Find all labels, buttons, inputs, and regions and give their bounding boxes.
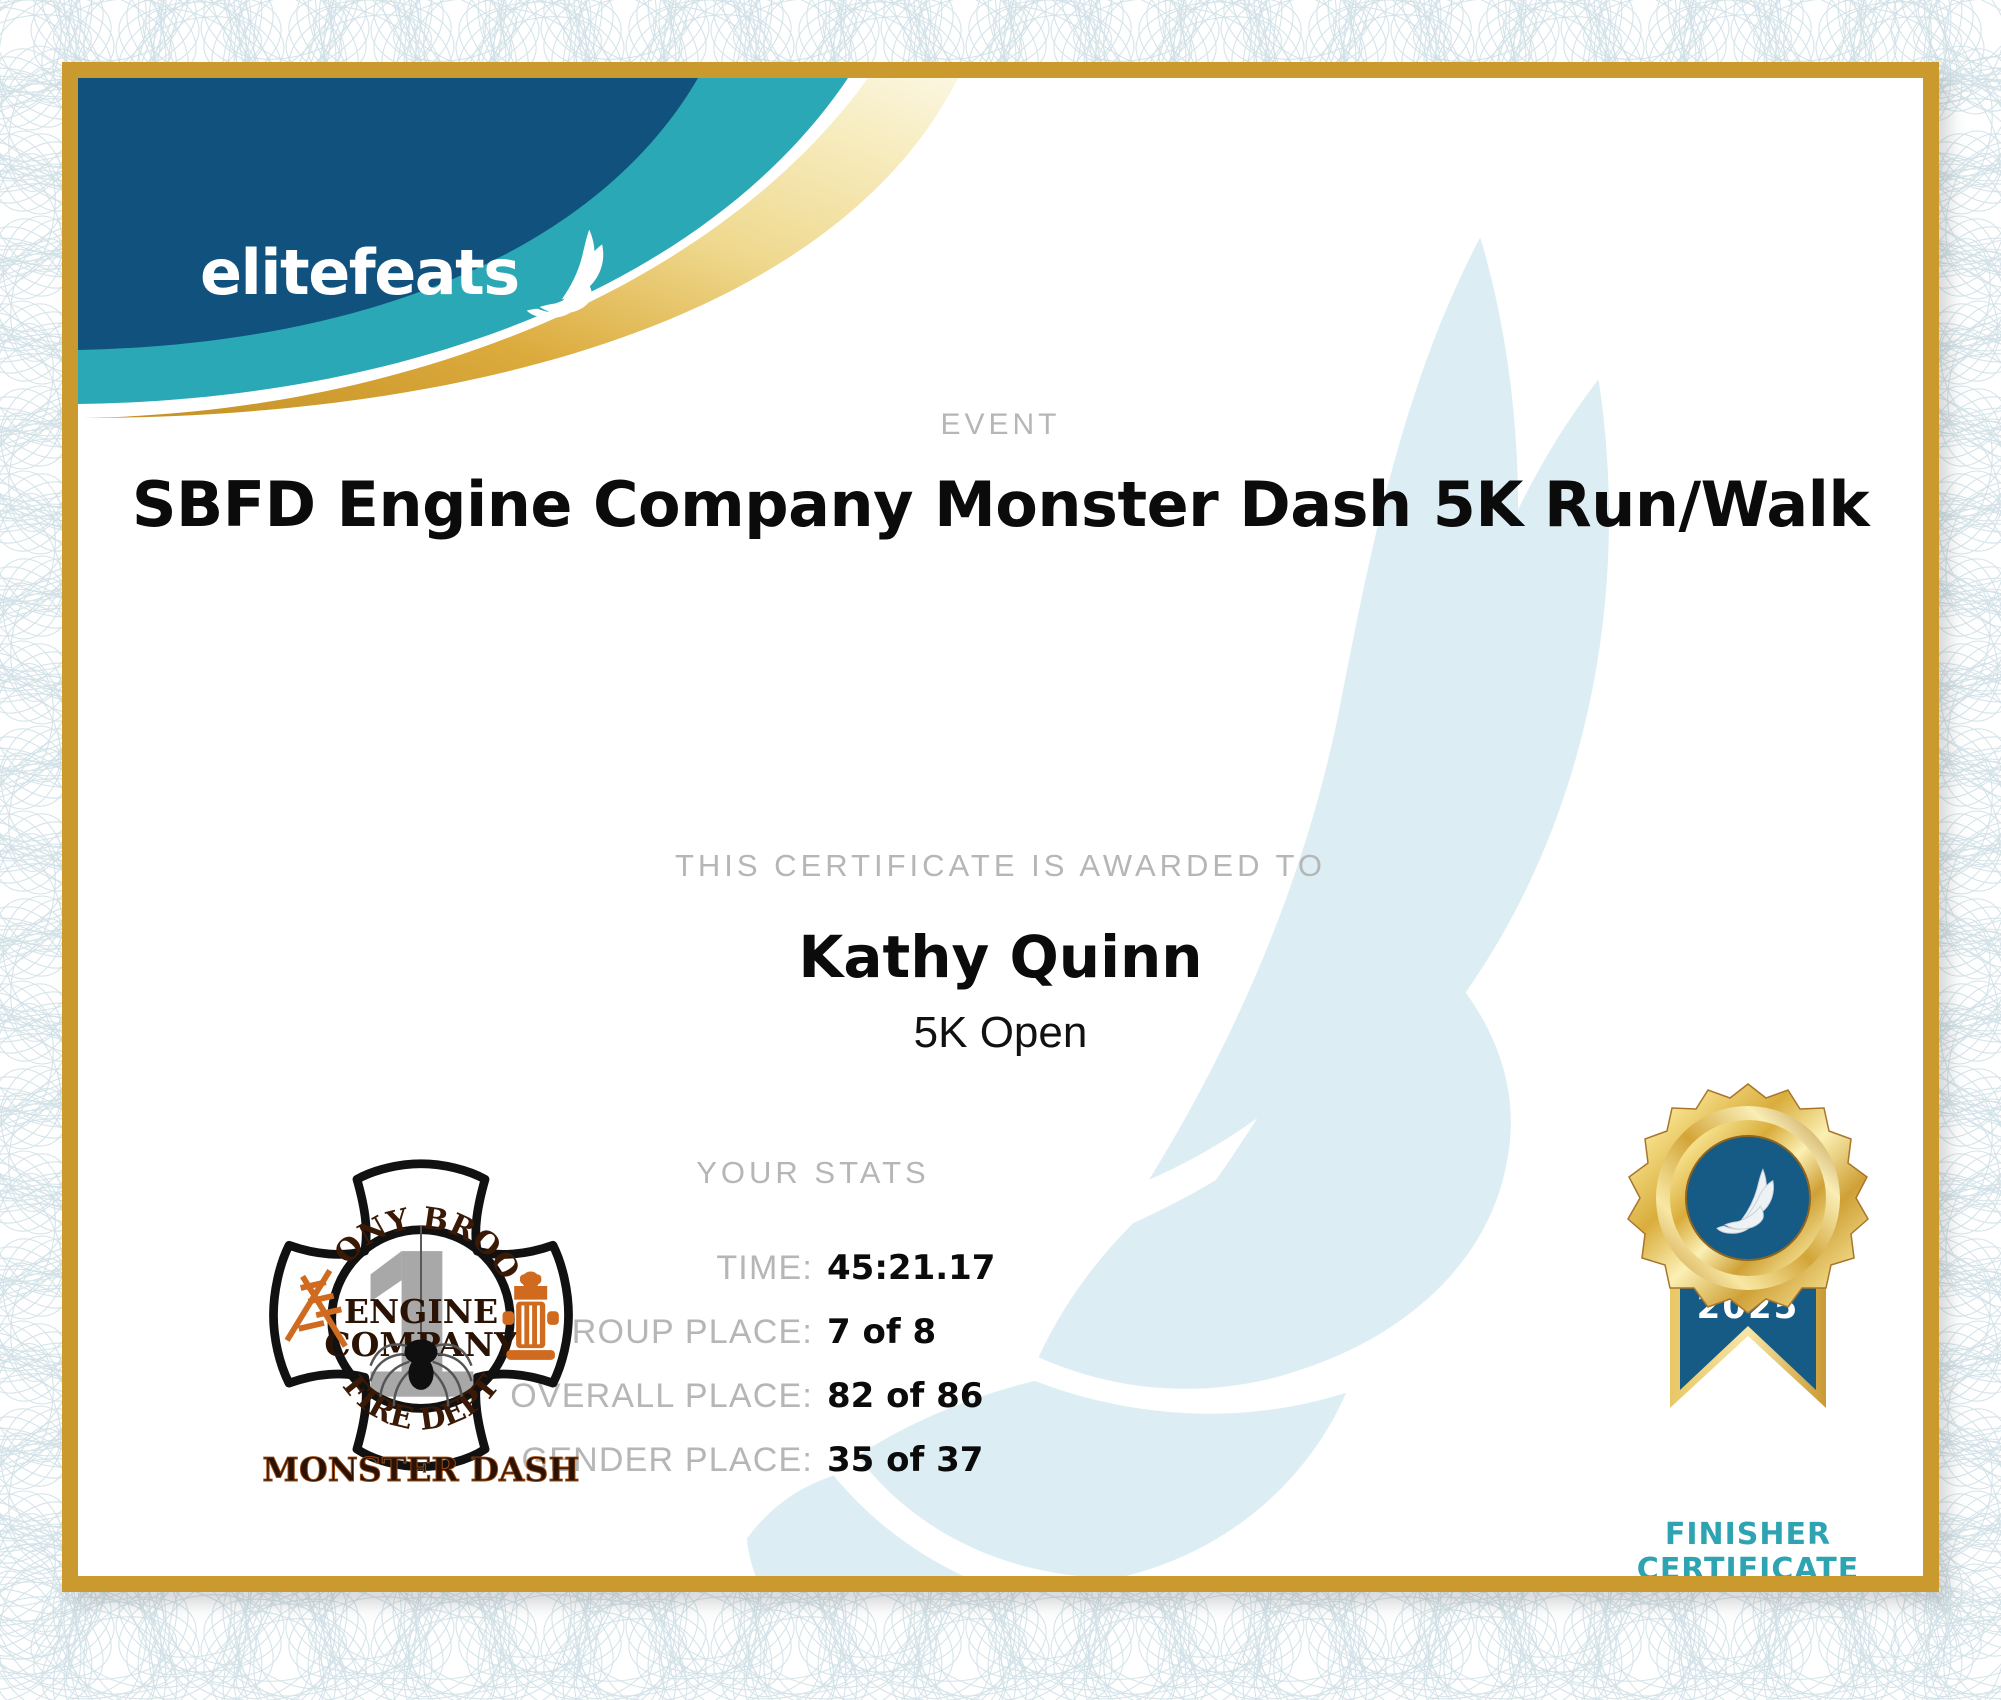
event-kicker: EVENT — [78, 408, 1923, 442]
medal-rosette — [1628, 1084, 1868, 1313]
brand-logo: elitefeats — [200, 226, 615, 318]
award-rosette-medal-icon: 2025 — [1598, 1078, 1898, 1498]
recipient-name: Kathy Quinn — [78, 923, 1923, 991]
awarded-to-kicker: THIS CERTIFICATE IS AWARDED TO — [78, 848, 1923, 884]
brand-logo-text: elitefeats — [200, 236, 519, 309]
event-title: SBFD Engine Company Monster Dash 5K Run/… — [78, 468, 1923, 541]
stat-value: 45:21.17 — [813, 1248, 1293, 1288]
stat-value: 82 of 86 — [813, 1376, 1293, 1416]
maltese-cross-fire-department-logo: STONY BROOK FIRE DEPT ENGINE COMPANY — [256, 1156, 586, 1486]
stat-value: 35 of 37 — [813, 1440, 1293, 1480]
stat-value: 7 of 8 — [813, 1312, 1293, 1352]
recipient-division: 5K Open — [78, 1008, 1923, 1058]
finisher-line-1: FINISHER — [1578, 1518, 1918, 1553]
finisher-line-2: CERTIFICATE — [1578, 1553, 1918, 1588]
winged-foot-icon — [523, 226, 615, 318]
monster-dash-caption: MONSTER DASH — [262, 1450, 579, 1486]
certificate-card: elitefeats EVENT SBFD Engine Company Mon… — [62, 62, 1939, 1592]
finisher-certificate-caption: FINISHER CERTIFICATE — [1578, 1518, 1918, 1587]
